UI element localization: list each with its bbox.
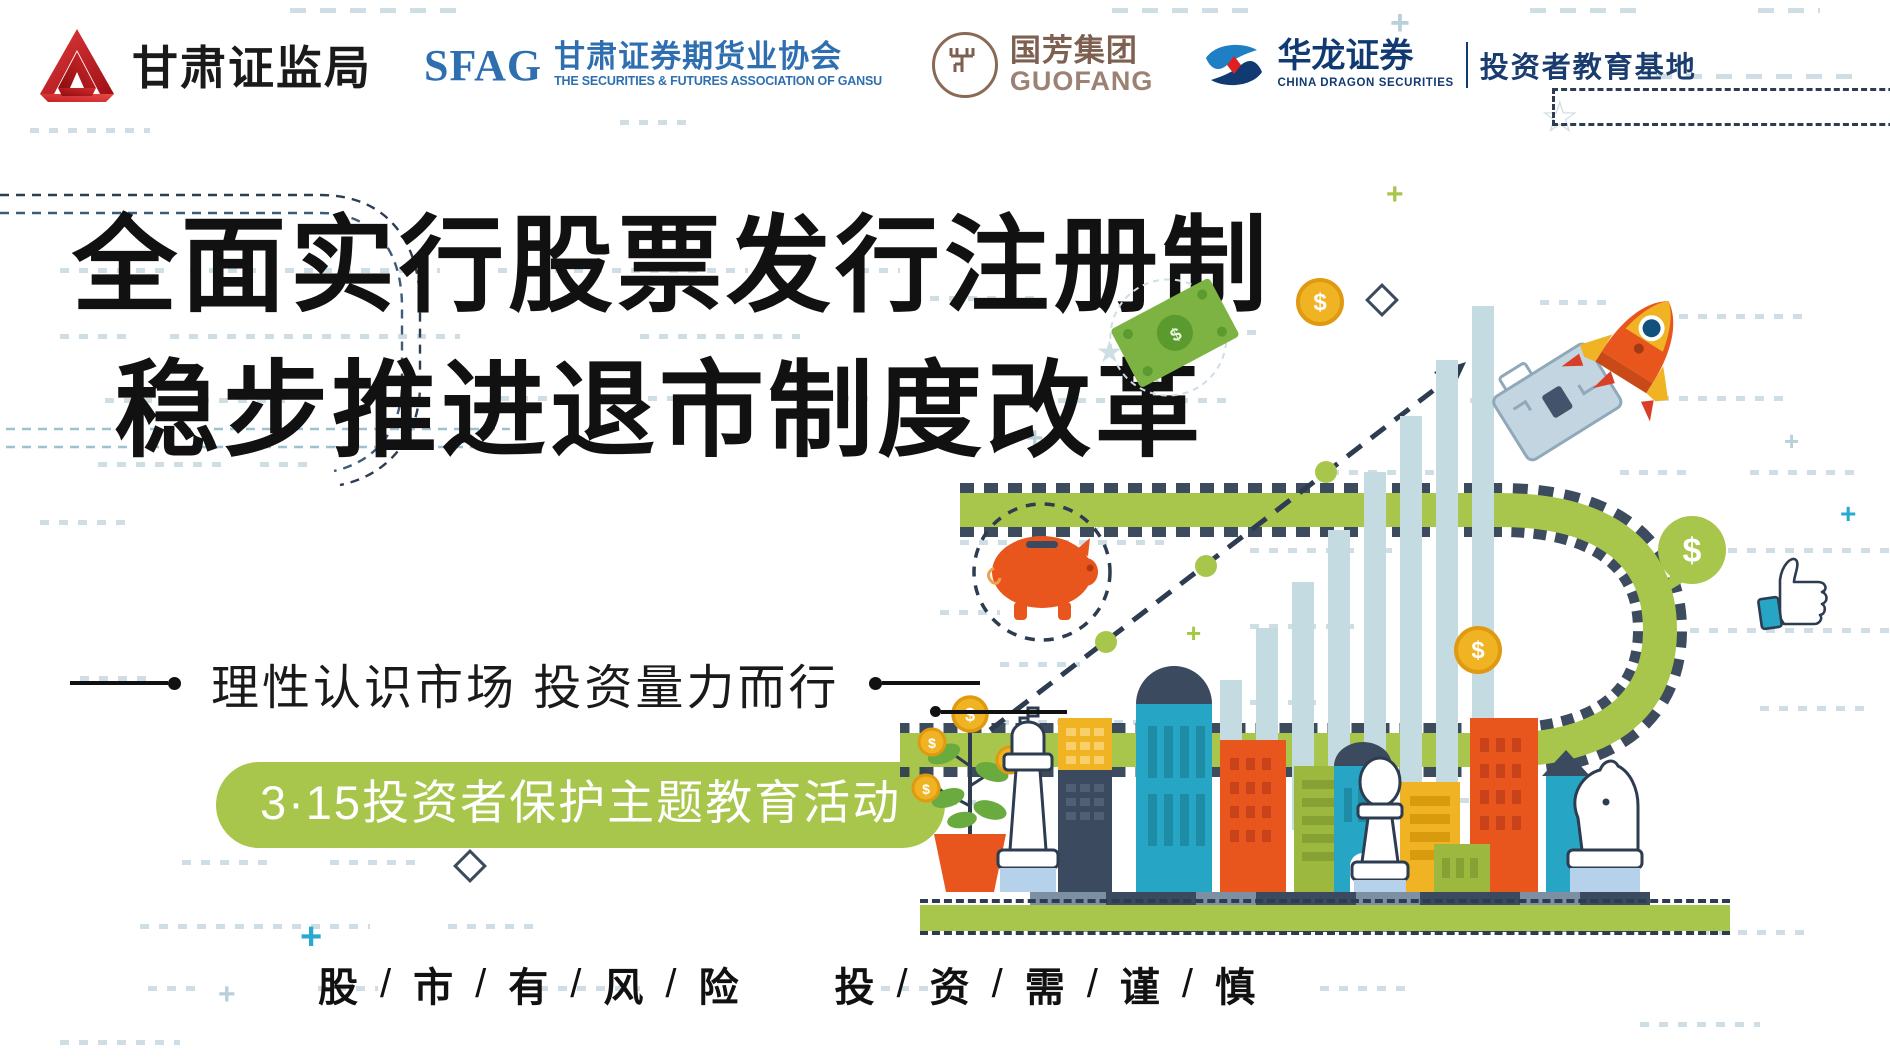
logo-divider [1466,42,1468,88]
logo-dragon-label-cn: 华龙证券 [1277,39,1453,75]
tagline-separator: / [992,962,1003,1007]
tagline-separator: / [1182,962,1193,1007]
plus-icon: + [218,980,236,1010]
rule-dot [168,677,181,690]
thumbs-up-icon [1758,559,1826,629]
tagline-char: 需 [1025,955,1065,1013]
svg-text:$: $ [1683,532,1702,570]
rule-bar [70,681,168,685]
speech-bubble-dollar-icon: $ [1658,516,1726,596]
campaign-badge-label: 3·15投资者保护主题教育活动 [260,776,901,829]
logo-sfag-abbr: SFAG [424,40,542,91]
svg-text:$: $ [1313,289,1327,316]
risk-tagline-right: 投 / 资 / 需 / 谨 / 慎 [835,955,1256,1013]
tagline-char: 投 [835,955,875,1013]
tagline-char: 有 [508,955,548,1013]
logo-sfag-label-en: THE SECURITIES & FUTURES ASSOCIATION OF … [554,74,882,89]
svg-text:$: $ [928,735,936,751]
logo-guofang: 国芳集团 GUOFANG [932,32,1154,98]
dragon-wave-logo-icon [1201,32,1267,98]
promotional-banner: + + + + + + + + ☆ ★ ☆ [0,0,1890,1063]
tagline-char: 慎 [1215,955,1255,1013]
coin-dollar-icon: $ [1456,628,1500,672]
logo-sfag-label-cn: 甘肃证券期货业协会 [554,41,882,74]
money-bill-icon: $ [1090,256,1252,416]
svg-text:$: $ [965,705,975,725]
campaign-badge: 3·15投资者保护主题教育活动 [216,762,945,848]
risk-tagline-left: 股 / 市 / 有 / 风 / 险 [318,955,739,1013]
svg-text:$: $ [922,781,930,797]
logo-gansu-csrc: 甘肃证监局 [36,26,372,104]
logo-bar: 甘肃证监局 SFAG 甘肃证券期货业协会 THE SECURITIES & FU… [0,20,1890,110]
logo-gansu-csrc-label: 甘肃证监局 [132,32,372,98]
risk-tagline: 股 / 市 / 有 / 风 / 险 投 / 资 / 需 / 谨 / 慎 [318,955,1255,1013]
triangle-penrose-logo-icon [36,26,118,104]
logo-guofang-label-cn: 国芳集团 [1010,35,1154,68]
logo-dragon-label-en: CHINA DRAGON SECURITIES [1277,75,1453,91]
tagline-separator: / [1087,962,1098,1007]
tagline-separator: / [897,962,908,1007]
logo-sfag: SFAG 甘肃证券期货业协会 THE SECURITIES & FUTURES … [424,40,882,91]
tagline-char: 谨 [1120,955,1160,1013]
tagline-separator: / [570,962,581,1007]
tagline-char: 风 [603,955,643,1013]
tagline-separator: / [380,962,391,1007]
plus-icon: + [300,918,322,956]
tagline-char: 险 [699,955,739,1013]
subtitle-rule-left [70,677,181,690]
diamond-icon [453,849,487,883]
tagline-separator: / [665,962,676,1007]
coin-dollar-icon: $ [1298,280,1342,324]
subtitle-row: 理性认识市场 投资量力而行 [70,648,980,718]
tagline-separator: / [475,962,486,1007]
tagline-char: 资 [930,955,970,1013]
logo-guofang-label-en: GUOFANG [1010,68,1154,95]
logo-china-dragon-securities: 华龙证券 CHINA DRAGON SECURITIES 投资者教育基地 [1201,32,1696,98]
svg-text:$: $ [1471,637,1485,664]
rule-dot [869,677,882,690]
tagline-char: 市 [413,955,453,1013]
finance-illustration: $ [900,210,1890,950]
plus-icon: + [1386,180,1404,210]
deer-circle-logo-icon [932,32,998,98]
logo-dragon-sublabel: 投资者教育基地 [1480,44,1697,86]
tagline-char: 股 [318,955,358,1013]
subtitle-text: 理性认识市场 投资量力而行 [211,648,839,718]
